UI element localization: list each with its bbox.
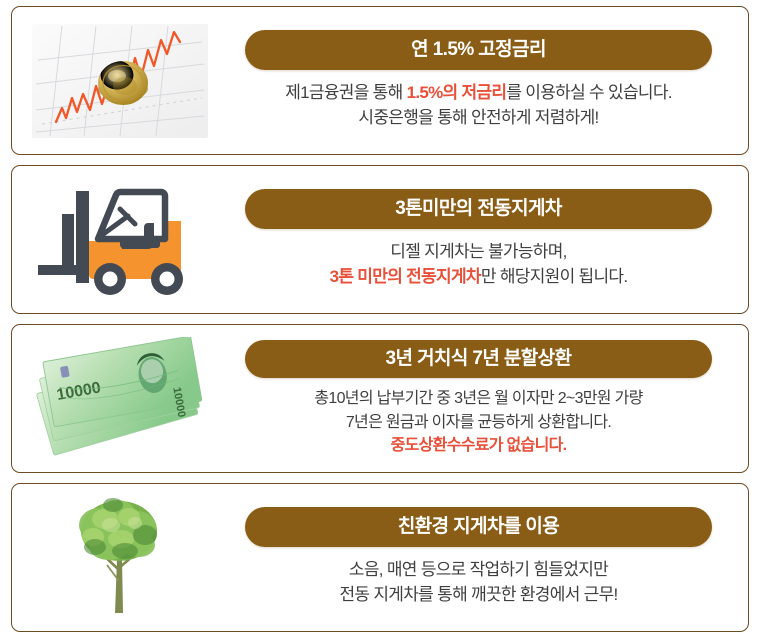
card-figure: [12, 7, 227, 154]
card-description: 디젤 지게차는 불가능하며, 3톤 미만의 전동지게차만 해당지원이 됩니다.: [245, 240, 712, 289]
card-line: 3톤 미만의 전동지게차만 해당지원이 됩니다.: [245, 265, 712, 290]
promo-card[interactable]: 친환경 지게차를 이용 소음, 매연 등으로 작업하기 힘들었지만 전동 지게차…: [11, 483, 749, 632]
card-body: 연 1.5% 고정금리 제1금융권을 통해 1.5%의 저금리를 이용하실 수 …: [227, 7, 748, 154]
card-banner: 3년 거치식 7년 분할상환: [245, 340, 712, 378]
promo-card[interactable]: 연 1.5% 고정금리 제1금융권을 통해 1.5%의 저금리를 이용하실 수 …: [11, 6, 749, 155]
card-body: 3년 거치식 7년 분할상환 총10년의 납부기간 중 3년은 월 이자만 2~…: [227, 325, 748, 472]
card-description: 총10년의 납부기간 중 3년은 월 이자만 2~3만원 가량 7년은 원금과 …: [245, 387, 712, 457]
text-segment-highlight: 중도상환수수료가 없습니다.: [391, 437, 567, 454]
card-body: 3톤미만의 전동지게차 디젤 지게차는 불가능하며, 3톤 미만의 전동지게차만…: [227, 166, 748, 313]
card-figure: 10000 10000 10000: [12, 325, 227, 472]
text-segment: 총10년의 납부기간 중 3년은 월 이자만 2~3만원 가량: [314, 390, 642, 407]
card-line: 중도상환수수료가 없습니다.: [245, 434, 712, 457]
card-banner: 3톤미만의 전동지게차: [245, 189, 712, 229]
card-banner: 친환경 지게차를 이용: [245, 507, 712, 547]
card-line: 시중은행을 통해 안전하게 저렴하게!: [245, 106, 712, 131]
text-segment: 7년은 원금과 이자를 균등하게 상환합니다.: [346, 414, 611, 431]
card-description: 제1금융권을 통해 1.5%의 저금리를 이용하실 수 있습니다. 시중은행을 …: [245, 81, 712, 130]
text-segment: 소음, 매연 등으로 작업하기 힘들었지만: [349, 560, 608, 579]
text-segment-highlight: 3톤 미만의 전동지게차: [330, 267, 481, 286]
text-segment: 제1금융권을 통해: [285, 83, 406, 102]
text-segment-highlight: 1.5%의 저금리: [407, 83, 507, 102]
card-line: 제1금융권을 통해 1.5%의 저금리를 이용하실 수 있습니다.: [245, 81, 712, 106]
card-figure: [12, 166, 227, 313]
promo-card[interactable]: 3톤미만의 전동지게차 디젤 지게차는 불가능하며, 3톤 미만의 전동지게차만…: [11, 165, 749, 314]
text-segment: 전동 지게차를 통해 깨끗한 환경에서 근무!: [339, 585, 617, 604]
card-body: 친환경 지게차를 이용 소음, 매연 등으로 작업하기 힘들었지만 전동 지게차…: [227, 484, 748, 631]
card-figure: [12, 484, 227, 631]
gold-coin-on-chart-icon: [32, 24, 208, 138]
orange-forklift-icon: [36, 181, 204, 299]
green-tree-icon: [55, 495, 185, 621]
card-line: 전동 지게차를 통해 깨끗한 환경에서 근무!: [245, 583, 712, 608]
card-line: 디젤 지게차는 불가능하며,: [245, 240, 712, 265]
promo-card-stack: 연 1.5% 고정금리 제1금융권을 통해 1.5%의 저금리를 이용하실 수 …: [0, 0, 760, 638]
card-description: 소음, 매연 등으로 작업하기 힘들었지만 전동 지게차를 통해 깨끗한 환경에…: [245, 558, 712, 607]
card-line: 소음, 매연 등으로 작업하기 힘들었지만: [245, 558, 712, 583]
text-segment: 를 이용하실 수 있습니다.: [506, 83, 672, 102]
text-segment: 디젤 지게차는 불가능하며,: [390, 242, 566, 261]
card-line: 총10년의 납부기간 중 3년은 월 이자만 2~3만원 가량: [245, 387, 712, 410]
text-segment: 시중은행을 통해 안전하게 저렴하게!: [358, 108, 598, 127]
card-line: 7년은 원금과 이자를 균등하게 상환합니다.: [245, 411, 712, 434]
korean-banknotes-icon: 10000 10000 10000: [31, 337, 209, 461]
card-banner: 연 1.5% 고정금리: [245, 30, 712, 70]
text-segment: 만 해당지원이 됩니다.: [481, 267, 628, 286]
promo-card[interactable]: 10000 10000 10000: [11, 324, 749, 473]
